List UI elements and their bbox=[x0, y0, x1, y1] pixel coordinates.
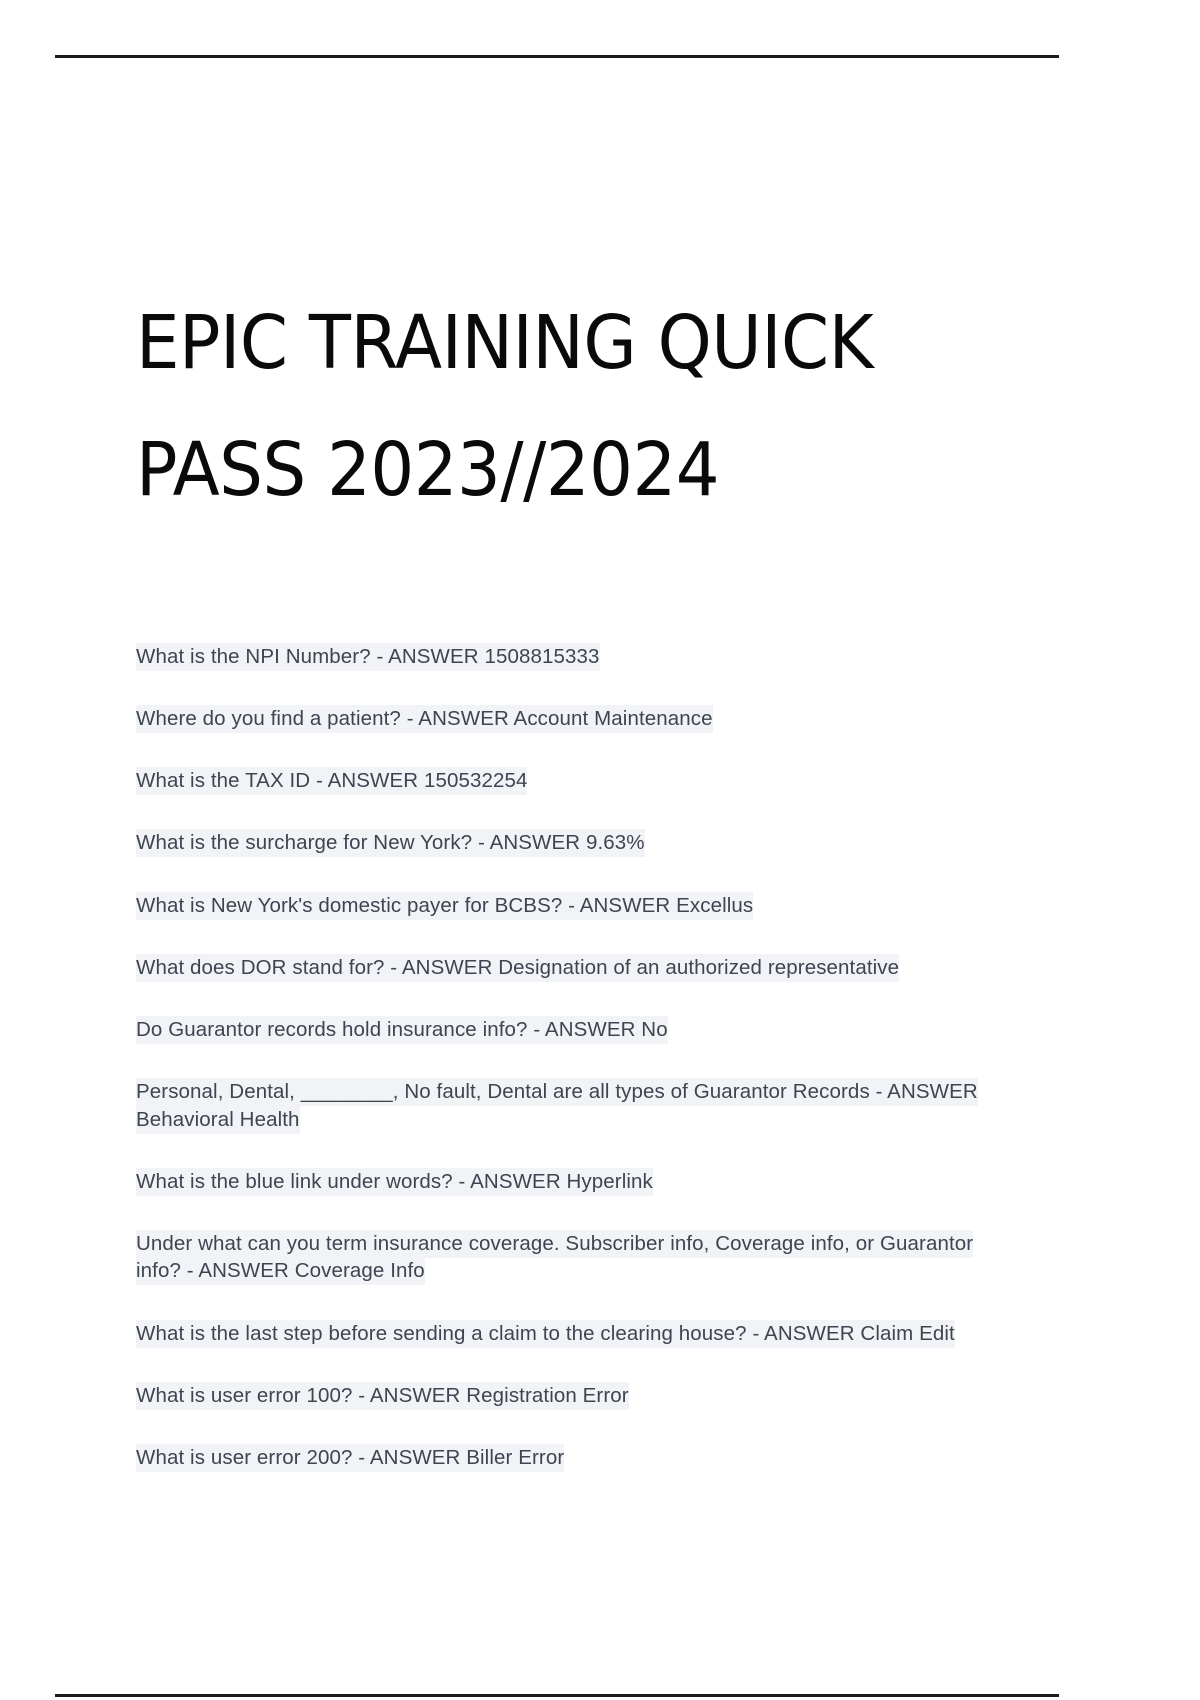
qa-item-text: What is the last step before sending a c… bbox=[136, 1320, 955, 1348]
qa-item-text: What is the surcharge for New York? - AN… bbox=[136, 829, 645, 857]
qa-item-text: Do Guarantor records hold insurance info… bbox=[136, 1016, 668, 1044]
qa-item-text: What is user error 200? - ANSWER Biller … bbox=[136, 1444, 564, 1472]
qa-item: Where do you find a patient? - ANSWER Ac… bbox=[136, 705, 1004, 732]
qa-item: What is the blue link under words? - ANS… bbox=[136, 1168, 1004, 1195]
qa-item: What is the surcharge for New York? - AN… bbox=[136, 829, 1004, 856]
qa-item: What does DOR stand for? - ANSWER Design… bbox=[136, 954, 1004, 981]
qa-item: What is the NPI Number? - ANSWER 1508815… bbox=[136, 643, 1004, 670]
page-top-rule bbox=[55, 55, 1059, 58]
qa-item-text: What is the NPI Number? - ANSWER 1508815… bbox=[136, 643, 600, 671]
page-title-line-1: EPIC TRAINING QUICK bbox=[136, 280, 973, 407]
page-title: EPIC TRAINING QUICK PASS 2023//2024 bbox=[136, 280, 973, 535]
document-page: EPIC TRAINING QUICK PASS 2023//2024 What… bbox=[0, 0, 1200, 1700]
qa-item: What is the last step before sending a c… bbox=[136, 1320, 1004, 1347]
qa-item-text: Personal, Dental, ________, No fault, De… bbox=[136, 1078, 978, 1133]
qa-item: What is New York's domestic payer for BC… bbox=[136, 892, 1004, 919]
qa-item-text: Where do you find a patient? - ANSWER Ac… bbox=[136, 705, 713, 733]
qa-item: Do Guarantor records hold insurance info… bbox=[136, 1016, 1004, 1043]
qa-item: Under what can you term insurance covera… bbox=[136, 1230, 1004, 1285]
qa-item: What is the TAX ID - ANSWER 150532254 bbox=[136, 767, 1004, 794]
qa-item: Personal, Dental, ________, No fault, De… bbox=[136, 1078, 1004, 1133]
document-content: EPIC TRAINING QUICK PASS 2023//2024 What… bbox=[136, 280, 1036, 1471]
page-title-line-2: PASS 2023//2024 bbox=[136, 407, 973, 534]
qa-item-text: What is the TAX ID - ANSWER 150532254 bbox=[136, 767, 527, 795]
qa-item-text: What is New York's domestic payer for BC… bbox=[136, 892, 753, 920]
qa-item-text: What is user error 100? - ANSWER Registr… bbox=[136, 1382, 629, 1410]
qa-item-text: Under what can you term insurance covera… bbox=[136, 1230, 973, 1285]
qa-item-text: What is the blue link under words? - ANS… bbox=[136, 1168, 653, 1196]
qa-item: What is user error 200? - ANSWER Biller … bbox=[136, 1444, 1004, 1471]
qa-item-text: What does DOR stand for? - ANSWER Design… bbox=[136, 954, 899, 982]
qa-list: What is the NPI Number? - ANSWER 1508815… bbox=[136, 643, 1004, 1472]
page-bottom-rule bbox=[55, 1694, 1059, 1697]
qa-item: What is user error 100? - ANSWER Registr… bbox=[136, 1382, 1004, 1409]
